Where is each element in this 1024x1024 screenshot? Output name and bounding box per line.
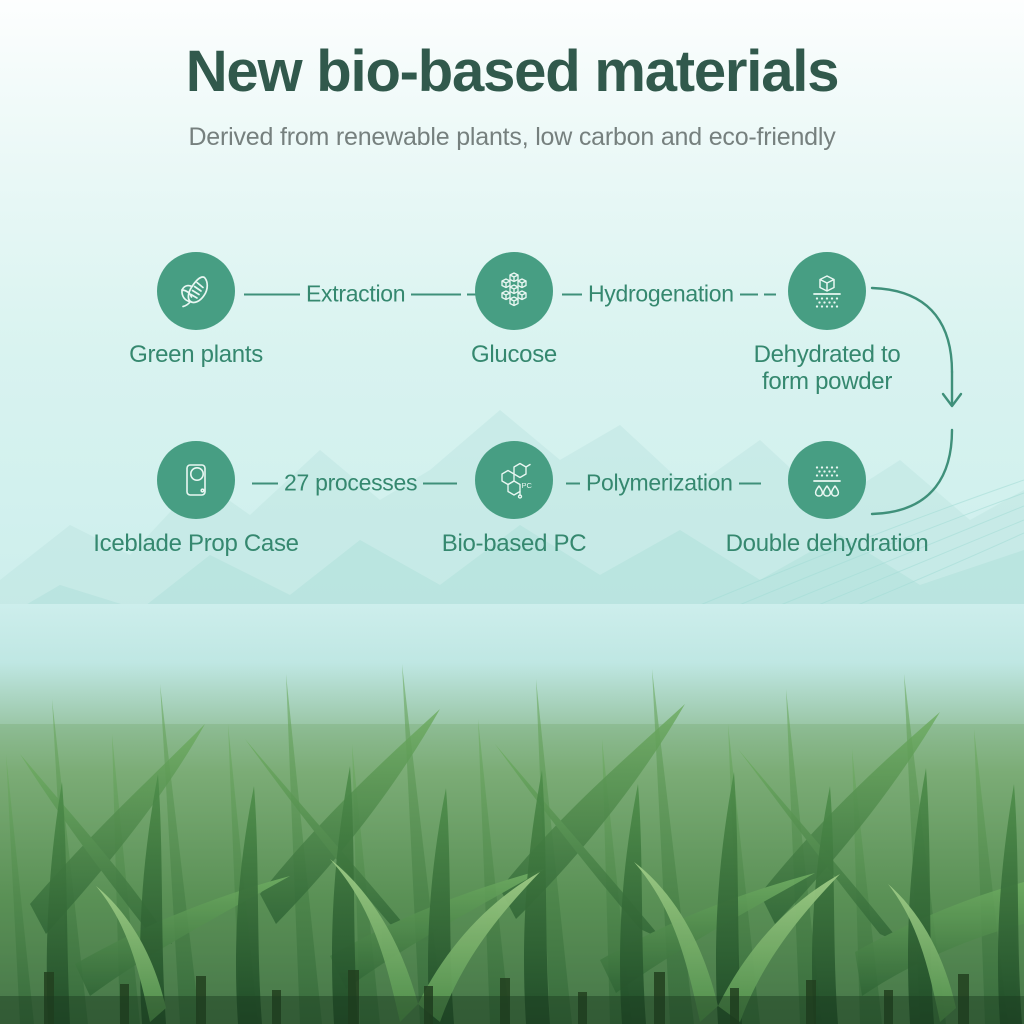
phone-case-icon bbox=[173, 457, 219, 503]
node-label: Double dehydration bbox=[712, 531, 942, 558]
node-dehydrated-powder[interactable]: Dehydrated to form powder bbox=[737, 252, 917, 396]
process-flow-diagram: Green plants Extraction bbox=[0, 0, 1024, 620]
sugarcane-field-photo bbox=[0, 604, 1024, 1024]
node-bubble bbox=[157, 252, 235, 330]
node-bio-based-pc[interactable]: PC Bio-based PC bbox=[424, 441, 604, 558]
node-label: Green plants bbox=[106, 342, 286, 369]
node-double-dehydration[interactable]: Double dehydration bbox=[737, 441, 917, 558]
node-label: Dehydrated to form powder bbox=[712, 342, 942, 396]
connector-label: Polymerization bbox=[580, 470, 739, 497]
connector-line bbox=[566, 482, 580, 484]
node-bubble bbox=[475, 252, 553, 330]
node-label: Glucose bbox=[424, 342, 604, 369]
node-bubble bbox=[157, 441, 235, 519]
pc-molecule-icon: PC bbox=[490, 456, 538, 504]
infographic-root: New bio-based materials Derived from ren… bbox=[0, 0, 1024, 1024]
node-bubble: PC bbox=[475, 441, 553, 519]
connector-label: 27 processes bbox=[278, 470, 423, 497]
node-bubble bbox=[788, 252, 866, 330]
node-glucose[interactable]: Glucose bbox=[424, 252, 604, 369]
node-green-plants[interactable]: Green plants bbox=[106, 252, 286, 369]
connector-label: Extraction bbox=[300, 281, 411, 308]
connector-polymerization: Polymerization bbox=[566, 470, 761, 497]
node-iceblade-prop-case[interactable]: Iceblade Prop Case bbox=[106, 441, 286, 558]
node-label: Bio-based PC bbox=[399, 531, 629, 558]
connector-line bbox=[562, 293, 582, 295]
svg-text:PC: PC bbox=[522, 481, 533, 490]
cube-powder-icon bbox=[804, 268, 850, 314]
dots-droplets-icon bbox=[804, 457, 850, 503]
connector-line bbox=[244, 293, 300, 295]
sugarcane-leaves bbox=[0, 604, 1024, 1024]
corn-icon bbox=[173, 268, 219, 314]
node-label: Iceblade Prop Case bbox=[81, 531, 311, 558]
node-bubble bbox=[788, 441, 866, 519]
glucose-cubes-icon bbox=[491, 268, 537, 314]
connector-line bbox=[252, 482, 278, 484]
connector-label: Hydrogenation bbox=[582, 281, 740, 308]
